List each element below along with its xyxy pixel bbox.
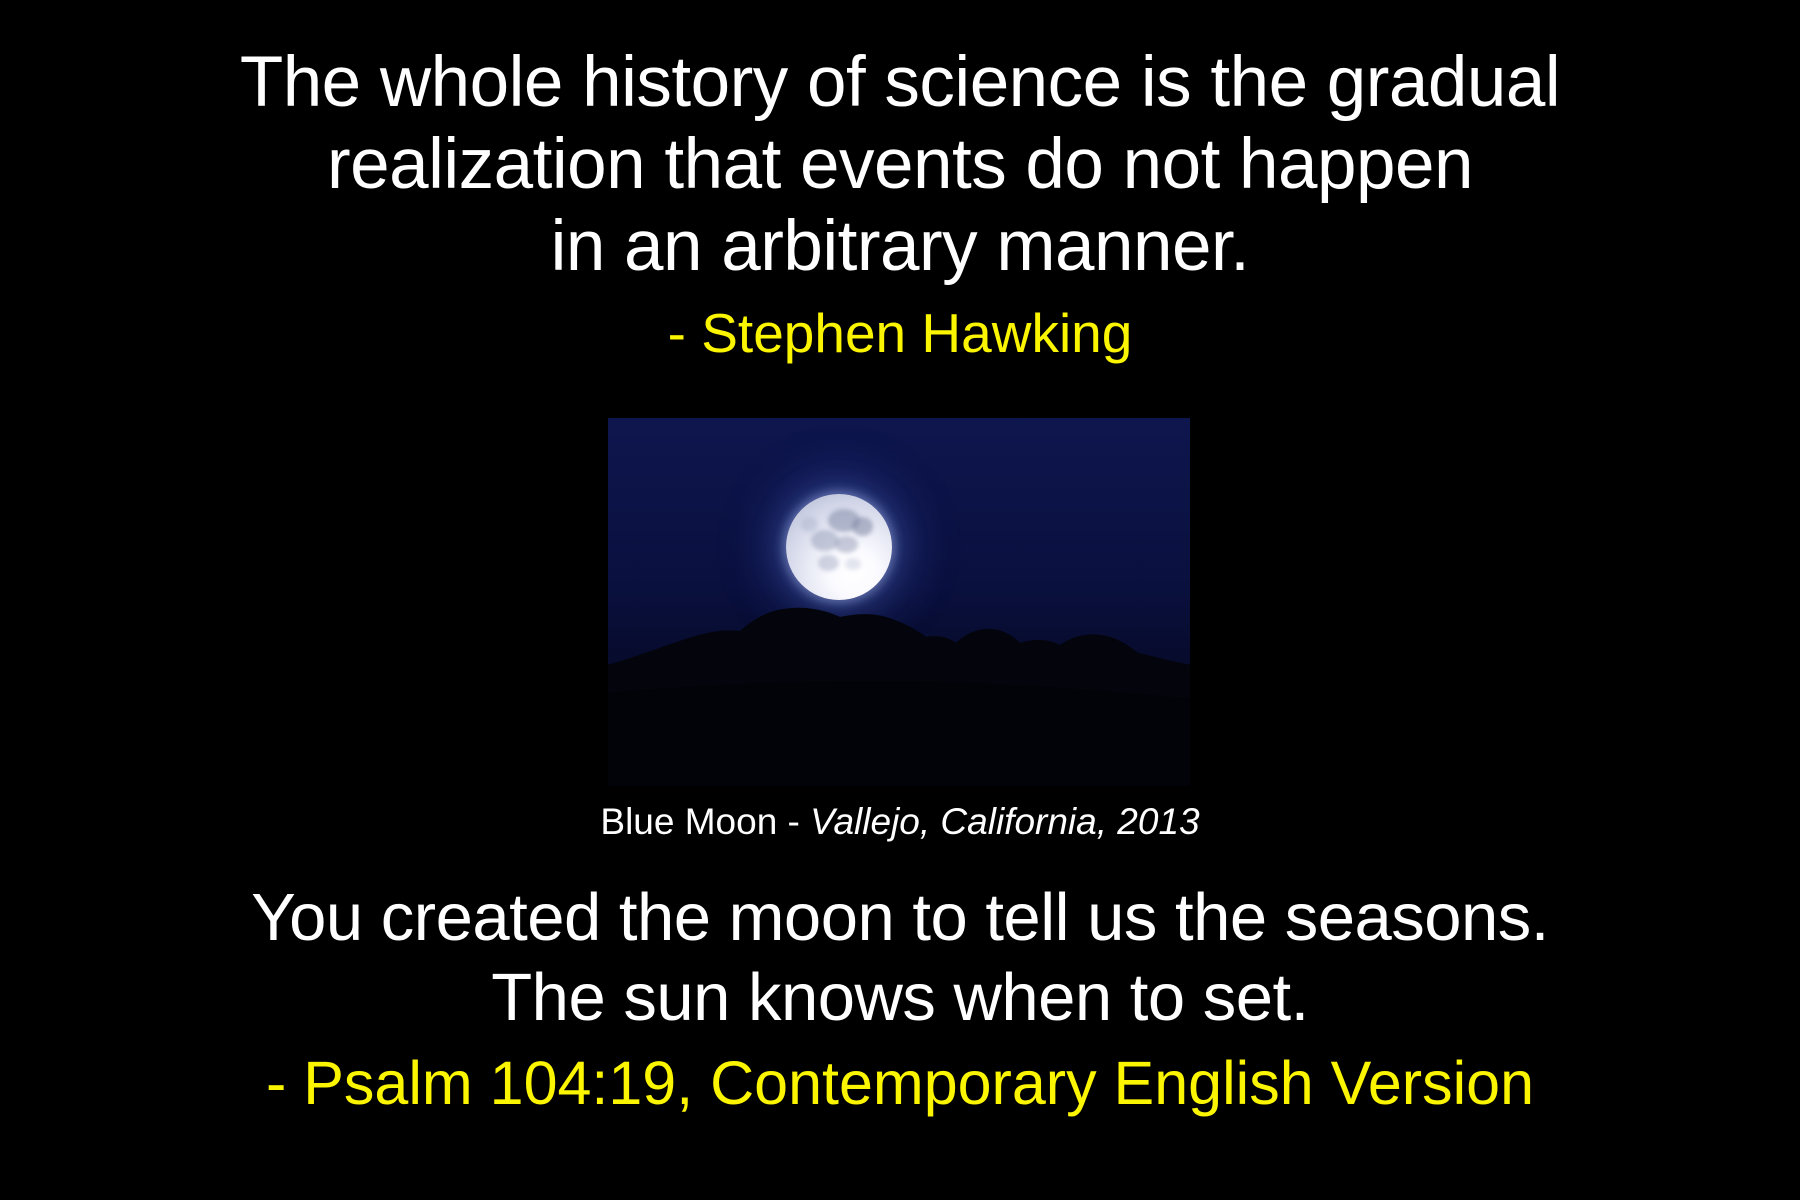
photo-caption: Blue Moon - Vallejo, California, 2013 [0,800,1800,844]
moon-mare-icon [845,558,861,571]
caption-place: Vallejo, California, 2013 [810,801,1199,842]
moon-photograph [608,418,1190,786]
caption-title: Blue Moon - [600,801,810,842]
moon-mare-icon [835,536,858,553]
moon-mare-icon [818,555,839,571]
hawking-quote-block: The whole history of science is the grad… [0,42,1800,366]
quote-attribution: - Stephen Hawking [0,300,1800,366]
scripture-attribution: - Psalm 104:19, Contemporary English Ver… [0,1046,1800,1120]
moon-mare-icon [801,517,818,532]
scripture-block: You created the moon to tell us the seas… [0,878,1800,1120]
slide-canvas: The whole history of science is the grad… [0,0,1800,1200]
scripture-line-1: You created the moon to tell us the seas… [0,878,1800,958]
photo-frame [608,418,1190,786]
moon-mare-icon [852,517,873,536]
scripture-line-2: The sun knows when to set. [0,958,1800,1038]
ridge-silhouette [608,573,1190,786]
quote-line-1: The whole history of science is the grad… [0,42,1800,124]
quote-line-3: in an arbitrary manner. [0,206,1800,288]
quote-line-2: realization that events do not happen [0,124,1800,206]
